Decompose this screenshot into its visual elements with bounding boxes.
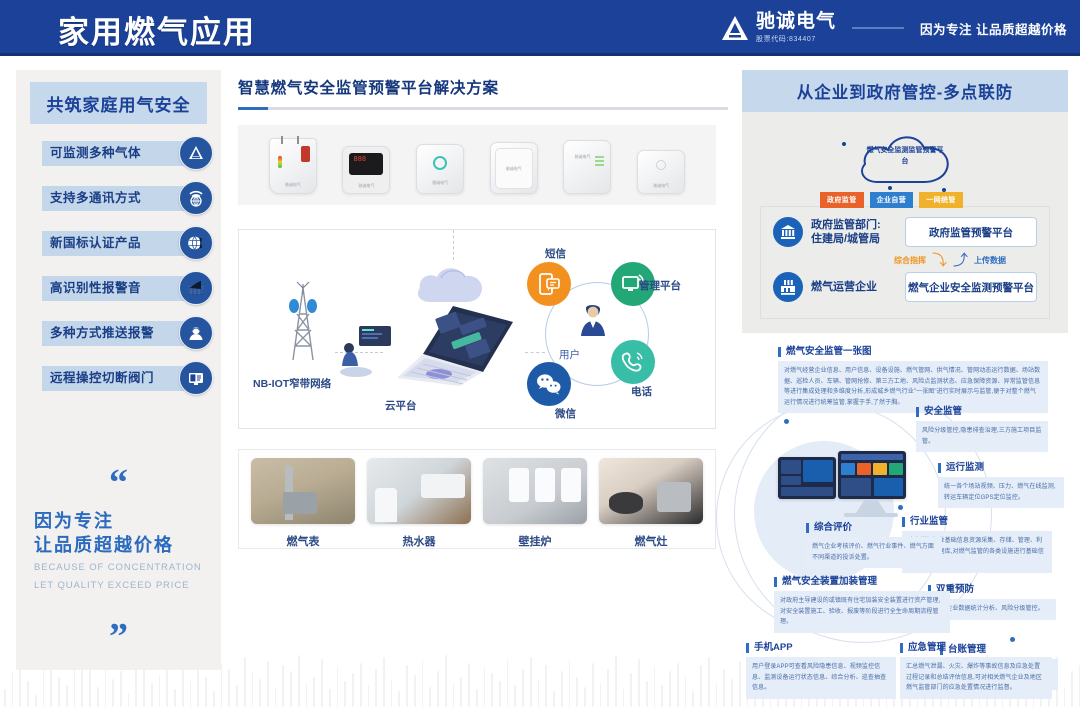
product-item[interactable]: 驰诚电气 bbox=[342, 136, 390, 194]
right-top-section: 从企业到政府管控-多点联防 燃气安全监测监管预警平台 政府监管 企业自营 一网统… bbox=[742, 70, 1068, 333]
left-panel: 共筑家庭用气安全 可监测多种气体 支持多通讯方式 bbox=[16, 70, 221, 670]
product-item[interactable]: 驰诚电气 bbox=[269, 136, 317, 194]
badge-unified-management[interactable]: 一网统管 bbox=[919, 192, 963, 208]
cloud-dot bbox=[888, 186, 892, 190]
product-item[interactable]: 驰诚电气 bbox=[490, 136, 538, 194]
dashboard-screen-right bbox=[838, 451, 906, 499]
info-title: 运行监测 bbox=[938, 463, 1064, 473]
nbiot-tower-icon bbox=[275, 280, 331, 366]
diagram-connector-2 bbox=[525, 352, 545, 353]
cloud-platform-label: 燃气安全监测监管预警平台 bbox=[866, 146, 944, 167]
info-block-emergency-management: 应急管理 汇总燃气泄漏、火灾、爆炸等事故信息及应急处置过程记录和总结评估信息,可… bbox=[900, 643, 1052, 699]
label-user: 用户 bbox=[559, 347, 580, 362]
feature-label: 新国标认证产品 bbox=[42, 231, 193, 256]
info-body: 对燃气经营企业信息、用户信息、设备设施、燃气管网、供气情况、管网动态运行数据、场… bbox=[778, 361, 1048, 413]
gov-name: 燃气运营企业 bbox=[811, 280, 897, 294]
center-panel: 智慧燃气安全监管预警平台解决方案 驰诚电气 驰诚电气 驰诚电气 驰诚电气 驰诚电… bbox=[238, 76, 728, 549]
feature-item-push-alarm[interactable]: 多种方式推送报警 bbox=[42, 318, 213, 348]
product-logo: 驰诚电气 bbox=[285, 182, 301, 188]
info-block-one-map: 燃气安全监管一张图 对燃气经营企业信息、用户信息、设备设施、燃气管网、供气情况、… bbox=[778, 347, 1048, 413]
product-strip: 驰诚电气 驰诚电气 驰诚电气 驰诚电气 驰诚电气 驰诚电气 bbox=[238, 125, 716, 205]
flow-label-upload: 上传数据 bbox=[974, 255, 1006, 266]
badge-gov-supervision[interactable]: 政府监管 bbox=[820, 192, 864, 208]
cloud-platform-laptop-icon bbox=[387, 292, 521, 388]
scene-caption: 壁挂炉 bbox=[483, 533, 587, 549]
scene-photo-gas-meter bbox=[251, 458, 355, 524]
center-title-rule bbox=[238, 107, 728, 110]
scene-item[interactable]: 热水器 bbox=[367, 458, 471, 549]
sms-icon[interactable] bbox=[527, 262, 571, 306]
quote-line-2: 让品质超越价格 bbox=[34, 533, 203, 557]
feature-label: 支持多通讯方式 bbox=[42, 186, 193, 211]
monitor-base bbox=[844, 513, 898, 517]
connector-dot bbox=[784, 419, 789, 424]
gov-name-line1: 燃气运营企业 bbox=[811, 280, 897, 294]
gas-triangle-icon bbox=[179, 136, 213, 170]
product-logo: 驰诚电气 bbox=[653, 183, 669, 189]
feature-item-alarm-sound[interactable]: 高识别性报警音 bbox=[42, 273, 213, 303]
scene-photo-gas-stove bbox=[599, 458, 703, 524]
info-title: 安全监管 bbox=[916, 407, 1048, 417]
center-section-title: 智慧燃气安全监管预警平台解决方案 bbox=[238, 76, 728, 98]
product-item[interactable]: 驰诚电气 bbox=[563, 136, 611, 194]
wechat-icon[interactable] bbox=[527, 362, 571, 406]
product-item[interactable]: 驰诚电气 bbox=[416, 136, 464, 194]
page-body: 共筑家庭用气安全 可监测多种气体 支持多通讯方式 bbox=[0, 56, 1080, 707]
brand-name: 驰诚电气 bbox=[756, 12, 836, 31]
diagram-connector-vertical bbox=[453, 230, 454, 260]
gov-name-line1: 政府监管部门: bbox=[811, 218, 897, 232]
gov-flow-row: 综合指挥 ⤵ ⤴ 上传数据 bbox=[863, 253, 1037, 268]
info-block-device-installation: 燃气安全装置加装管理 对政府主导建设的或镇既有住宅加装安全装置进行资产管理,对安… bbox=[774, 577, 950, 633]
enterprise-platform-button[interactable]: 燃气企业安全监测预警平台 bbox=[905, 272, 1037, 302]
label-management-platform: 管理平台 bbox=[639, 278, 681, 293]
government-building-icon bbox=[773, 217, 803, 247]
info-title: 燃气安全监管一张图 bbox=[778, 347, 1048, 357]
scene-item[interactable]: 燃气灶 bbox=[599, 458, 703, 549]
brand-block: 驰诚电气 股票代码:834407 因为专注 让品质超越价格 bbox=[720, 0, 1080, 56]
factory-icon bbox=[773, 272, 803, 302]
quote-open-mark: “ bbox=[34, 470, 203, 497]
gov-row-government: 政府监管部门: 住建局/城管局 政府监管预警平台 bbox=[773, 217, 1037, 247]
remote-monitor-icon bbox=[179, 361, 213, 395]
gov-name: 政府监管部门: 住建局/城管局 bbox=[811, 218, 897, 247]
product-logo: 驰诚电气 bbox=[432, 180, 448, 186]
info-body: 风险分级管控,隐患排查治理,三方施工项目监管。 bbox=[916, 421, 1048, 452]
phone-call-icon[interactable] bbox=[611, 340, 655, 384]
feature-item-gas-detection[interactable]: 可监测多种气体 bbox=[42, 138, 213, 168]
quote-en-1: BECAUSE OF CONCENTRATION bbox=[34, 561, 203, 575]
feature-label: 多种方式推送报警 bbox=[42, 321, 193, 346]
right-panel-title: 从企业到政府管控-多点联防 bbox=[742, 70, 1068, 112]
brand-slogan: 因为专注 让品质超越价格 bbox=[920, 19, 1067, 38]
quote-close-mark: ” bbox=[34, 624, 203, 651]
cloud-area: 燃气安全监测监管预警平台 政府监管 企业自营 一网统管 bbox=[742, 112, 1068, 204]
info-block-safety-supervision: 安全监管 风险分级管控,隐患排查治理,三方施工项目监管。 bbox=[916, 407, 1048, 452]
info-title: 应急管理 bbox=[900, 643, 1052, 653]
info-title: 手机APP bbox=[746, 643, 896, 653]
user-headset-icon bbox=[179, 316, 213, 350]
badge-enterprise-operation[interactable]: 企业自营 bbox=[870, 192, 914, 208]
feature-label: 高识别性报警音 bbox=[42, 276, 193, 301]
scene-item[interactable]: 燃气表 bbox=[251, 458, 355, 549]
info-body: 燃气企业考核评价、燃气行业事件、燃气方面不同渠道的投诉处置。 bbox=[806, 537, 942, 568]
label-sms: 短信 bbox=[545, 246, 566, 261]
scene-caption: 燃气灶 bbox=[599, 533, 703, 549]
gov-enterprise-box: 政府监管部门: 住建局/城管局 政府监管预警平台 综合指挥 ⤵ ⤴ 上传数据 bbox=[760, 206, 1050, 319]
gas-safety-map-section: 燃气安全监管一张图 对燃气经营企业信息、用户信息、设备设施、燃气管网、供气情况、… bbox=[742, 345, 1068, 697]
monitor-stand bbox=[856, 499, 886, 513]
info-body: 对政府主导建设的或镇既有住宅加装安全装置进行资产管理,对安全装置施工、验收、报废… bbox=[774, 591, 950, 633]
feature-label: 远程操控切断阀门 bbox=[42, 366, 193, 391]
info-block-mobile-app: 手机APP 用户登录APP可查看风险隐患信息、视频监控信息、监测设备运行状态信息… bbox=[746, 643, 896, 699]
page-header: 家用燃气应用 驰诚电气 股票代码:834407 因为专注 让品质超越价格 bbox=[0, 0, 1080, 56]
quote-block: “ 因为专注 让品质超越价格 BECAUSE OF CONCENTRATION … bbox=[16, 470, 221, 650]
feature-label: 可监测多种气体 bbox=[42, 141, 193, 166]
feature-item-certified[interactable]: 新国标认证产品 bbox=[42, 228, 213, 258]
label-wechat: 微信 bbox=[555, 406, 576, 421]
right-panel: 从企业到政府管控-多点联防 燃气安全监测监管预警平台 政府监管 企业自营 一网统… bbox=[742, 70, 1068, 690]
brand-divider bbox=[852, 27, 904, 29]
cloud-dot bbox=[842, 142, 846, 146]
scene-caption: 燃气表 bbox=[251, 533, 355, 549]
info-body: 汇总燃气泄漏、火灾、爆炸等事故信息及应急处置过程记录和总结评估信息,可对相关燃气… bbox=[900, 657, 1052, 699]
info-body: 统一各个场站视频、压力、燃气在线监测,转运车辆定位GPS定位监控。 bbox=[938, 477, 1064, 508]
label-phone: 电话 bbox=[631, 384, 652, 399]
badge-group: 政府监管 企业自营 一网统管 bbox=[820, 192, 963, 208]
product-logo: 驰诚电气 bbox=[358, 183, 374, 189]
scene-caption: 热水器 bbox=[367, 533, 471, 549]
network-architecture-diagram: NB-IOT窄带网络 云平台 短信 管理 bbox=[238, 229, 716, 429]
feature-item-multi-comm[interactable]: 支持多通讯方式 bbox=[42, 183, 213, 213]
page-title: 家用燃气应用 bbox=[58, 7, 256, 52]
info-title: 燃气安全装置加装管理 bbox=[774, 577, 950, 587]
gov-platform-button[interactable]: 政府监管预警平台 bbox=[905, 217, 1037, 247]
wifi-globe-icon bbox=[179, 181, 213, 215]
chicheng-triangle-logo-icon bbox=[720, 14, 750, 42]
application-scenes-strip: 燃气表 热水器 壁挂炉 燃气灶 bbox=[238, 449, 716, 549]
gov-name-line2: 住建局/城管局 bbox=[811, 232, 897, 246]
left-panel-title: 共筑家庭用气安全 bbox=[30, 82, 207, 124]
gov-row-enterprise: 燃气运营企业 燃气企业安全监测预警平台 bbox=[773, 272, 1037, 302]
flow-arrow-up-icon: ⤴ bbox=[953, 253, 968, 268]
product-logo: 驰诚电气 bbox=[506, 166, 522, 172]
quote-en-2: LET QUALITY EXCEED PRICE bbox=[34, 579, 203, 593]
info-title: 综合评价 bbox=[806, 523, 942, 533]
user-avatar-icon bbox=[577, 302, 609, 344]
speaker-horn-icon bbox=[179, 271, 213, 305]
info-body: 用户登录APP可查看风险隐患信息、视频监控信息、监测设备运行状态信息、综合分析、… bbox=[746, 657, 896, 699]
label-nbiot: NB-IOT窄带网络 bbox=[253, 376, 331, 391]
brand-names: 驰诚电气 股票代码:834407 bbox=[756, 12, 836, 44]
dashboard-screen-left bbox=[778, 457, 836, 499]
product-item[interactable]: 驰诚电气 bbox=[637, 136, 685, 194]
feature-list: 可监测多种气体 支持多通讯方式 bbox=[16, 138, 221, 393]
flow-arrow-down-icon: ⤵ bbox=[932, 253, 947, 268]
scene-item[interactable]: 壁挂炉 bbox=[483, 458, 587, 549]
scene-photo-wall-boiler bbox=[483, 458, 587, 524]
label-cloud-platform: 云平台 bbox=[385, 398, 417, 413]
info-block-comprehensive-evaluation: 综合评价 燃气企业考核评价、燃气行业事件、燃气方面不同渠道的投诉处置。 bbox=[806, 523, 942, 568]
info-block-operation-monitoring: 运行监测 统一各个场站视频、压力、燃气在线监测,转运车辆定位GPS定位监控。 bbox=[938, 463, 1064, 508]
flow-label-command: 综合指挥 bbox=[894, 255, 926, 266]
globe-certificate-icon bbox=[179, 226, 213, 260]
scene-photo-water-heater bbox=[367, 458, 471, 524]
feature-item-remote-valve[interactable]: 远程操控切断阀门 bbox=[42, 363, 213, 393]
connector-dot bbox=[1010, 637, 1015, 642]
product-logo: 驰诚电气 bbox=[575, 154, 591, 160]
quote-line-1: 因为专注 bbox=[34, 509, 203, 533]
brand-stock-code: 股票代码:834407 bbox=[756, 34, 836, 44]
operator-workstation-icon bbox=[339, 322, 393, 378]
